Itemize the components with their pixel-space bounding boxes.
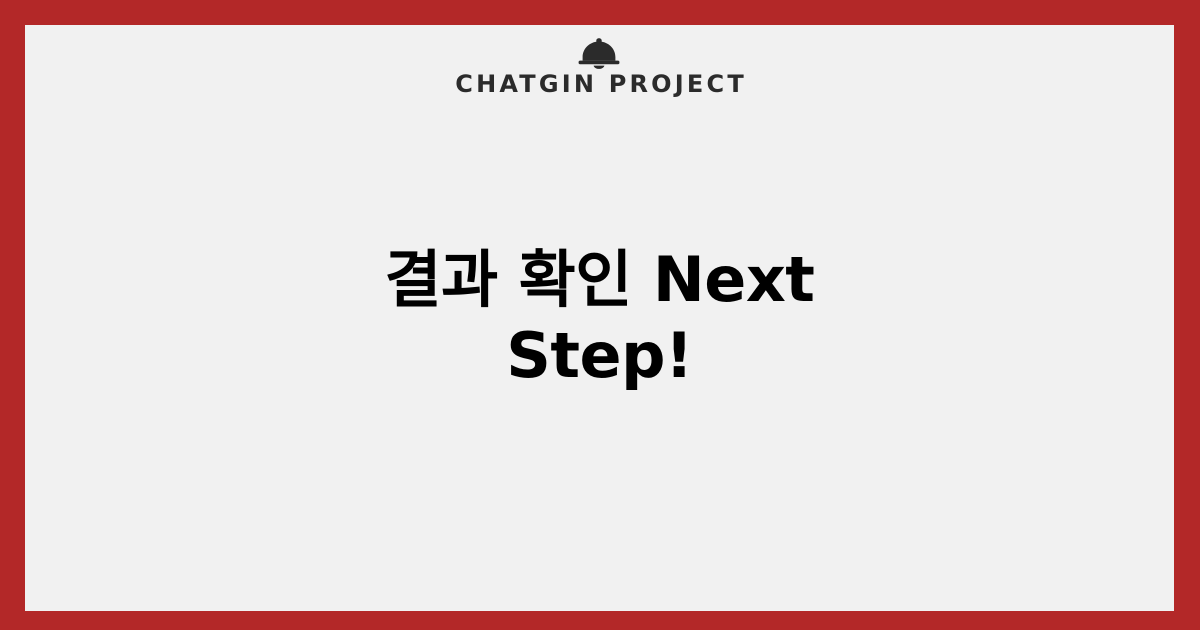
bell-icon [576, 36, 622, 70]
content-panel: CHATGIN PROJECT 결과 확인 Next Step! [25, 25, 1174, 611]
page-title: 결과 확인 Next Step! [330, 242, 870, 393]
headline-area: 결과 확인 Next Step! [25, 25, 1174, 611]
poster-card: CHATGIN PROJECT 결과 확인 Next Step! [0, 0, 1200, 630]
brand-lockup: CHATGIN PROJECT [452, 36, 747, 96]
brand-name: CHATGIN PROJECT [452, 72, 747, 96]
